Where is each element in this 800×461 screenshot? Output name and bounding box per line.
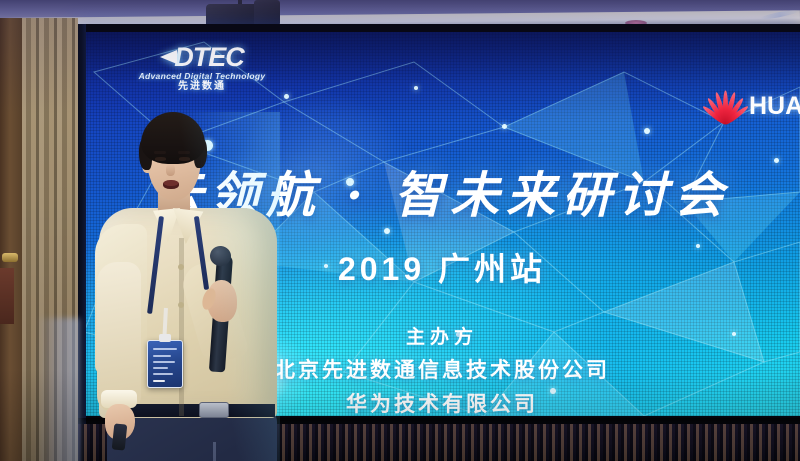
door[interactable]: [0, 18, 22, 461]
mouth: [163, 180, 179, 189]
presentation-clicker: [112, 423, 128, 450]
badge-clip: [159, 334, 171, 342]
conference-badge: [147, 340, 183, 388]
door-handle[interactable]: [2, 253, 18, 262]
door-plate: [0, 268, 14, 324]
belt-buckle: [199, 402, 229, 418]
hair: [141, 112, 205, 164]
eye-right: [179, 157, 190, 161]
eye-left: [155, 157, 166, 161]
conference-stage-photo: DTEC Advanced Digital Technology 先进数通 HU…: [0, 0, 800, 461]
speaker: [95, 112, 280, 461]
nose: [166, 164, 175, 176]
